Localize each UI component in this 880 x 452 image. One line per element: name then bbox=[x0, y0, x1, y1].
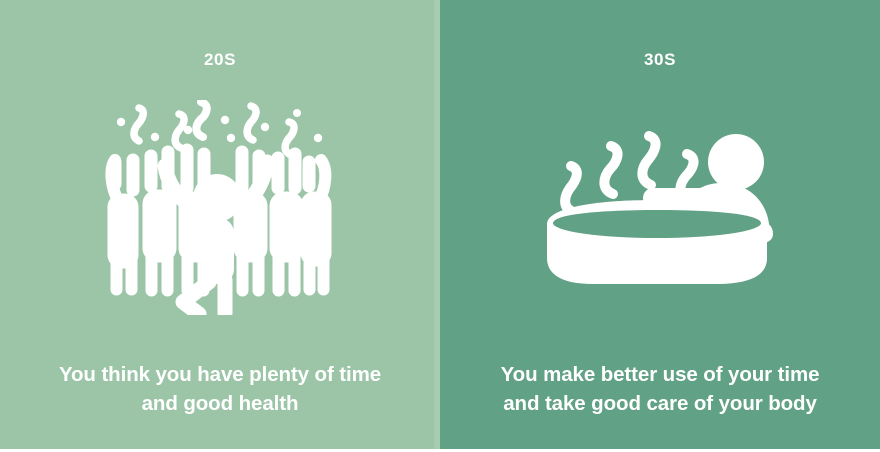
panel-heading-thirties: 30S bbox=[644, 51, 676, 68]
comparison-infographic: 20S bbox=[0, 0, 880, 452]
caption-line: You make better use of your time bbox=[460, 360, 860, 389]
illustration-area-thirties bbox=[440, 68, 880, 360]
caption-line: You think you have plenty of time bbox=[20, 360, 420, 389]
panel-thirties: 30S bbox=[440, 0, 880, 452]
hot-bath-relaxing-icon bbox=[535, 118, 785, 303]
caption-line: and take good care of your body bbox=[460, 389, 860, 418]
panel-twenties: 20S bbox=[0, 0, 440, 452]
caption-line: and good health bbox=[20, 389, 420, 418]
illustration-area-twenties bbox=[0, 68, 440, 360]
celebrating-crowd-icon bbox=[105, 100, 335, 320]
caption-twenties: You think you have plenty of time and go… bbox=[20, 360, 420, 418]
panel-heading-twenties: 20S bbox=[204, 51, 236, 68]
caption-thirties: You make better use of your time and tak… bbox=[460, 360, 860, 418]
